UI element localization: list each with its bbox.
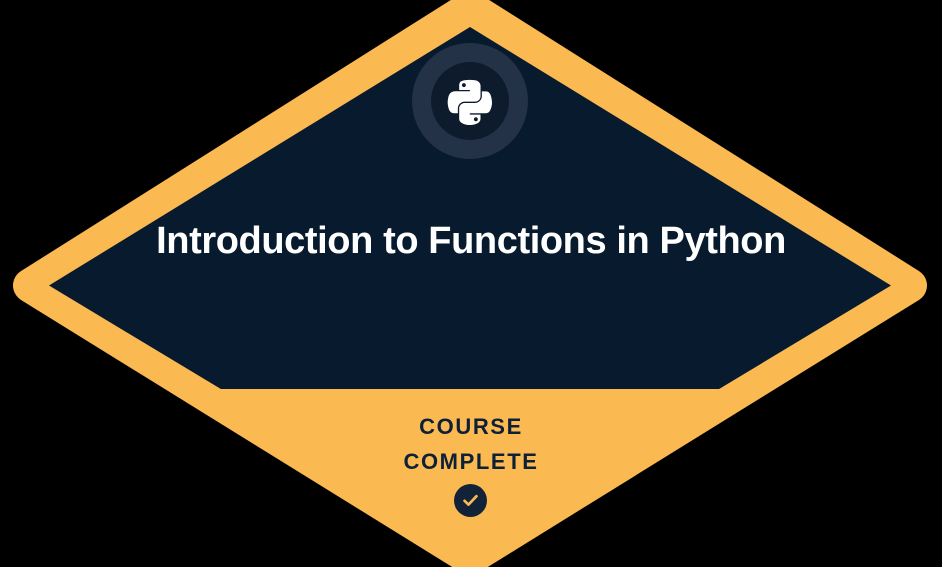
check-mark-icon xyxy=(461,491,480,510)
course-title-text: Introduction to Functions in Python xyxy=(156,220,786,262)
certificate-badge: Introduction to Functions in Python COUR… xyxy=(0,0,942,567)
check-circle-icon xyxy=(454,484,487,517)
python-logo-icon xyxy=(444,75,496,127)
